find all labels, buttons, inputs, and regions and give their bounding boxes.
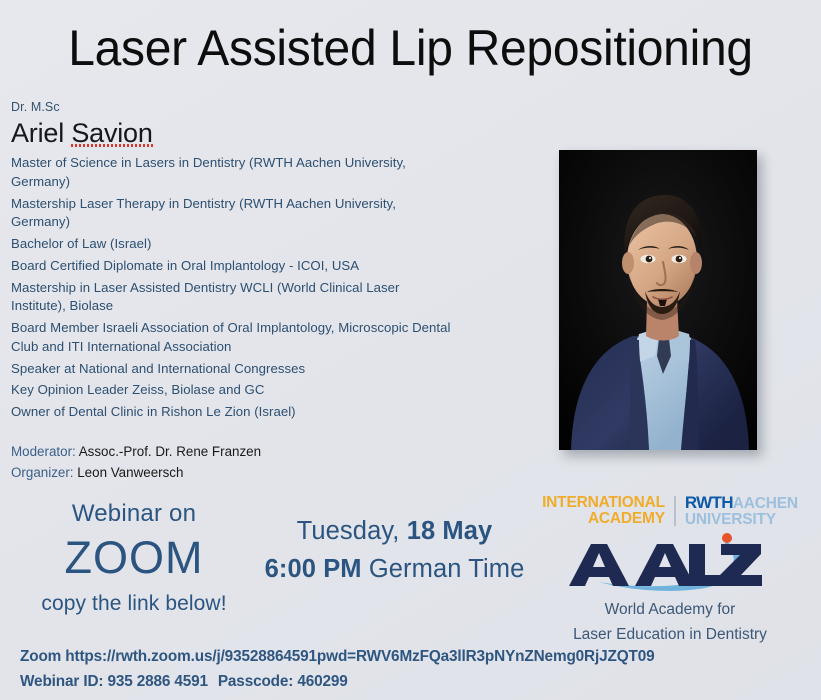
aachen-label: AACHEN — [733, 495, 798, 512]
page-title: Laser Assisted Lip Repositioning — [16, 22, 804, 75]
webinar-id: Webinar ID: 935 2886 4591 — [20, 673, 208, 690]
rwth-wordmark: RWTH — [685, 493, 733, 512]
webinar-poster: Laser Assisted Lip Repositioning Dr. M.S… — [0, 0, 821, 700]
moderator-label: Moderator: — [11, 444, 76, 459]
speaker-last-name: Savion — [71, 118, 152, 148]
day-prefix: Tuesday, — [297, 517, 407, 545]
zoom-link[interactable]: Zoom https://rwth.zoom.us/j/93528864591p… — [20, 644, 802, 669]
international-academy-logo: INTERNATIONAL ACADEMY — [542, 495, 665, 527]
list-item: Board Certified Diplomate in Oral Implan… — [11, 257, 451, 276]
aalz-dot — [722, 533, 732, 543]
list-item: Bachelor of Law (Israel) — [11, 235, 451, 254]
list-item: Master of Science in Lasers in Dentistry… — [11, 154, 451, 191]
event-date: Tuesday, 18 May — [262, 512, 527, 550]
roles-section: Moderator: Assoc.-Prof. Dr. Rene Franzen… — [11, 442, 441, 484]
list-item: Speaker at National and International Co… — [11, 360, 451, 379]
organizer-line: Organizer: Leon Vanweersch — [11, 463, 441, 483]
timezone-label: German Time — [362, 555, 525, 583]
portrait-illustration — [559, 150, 757, 450]
schedule-section: Tuesday, 18 May 6:00 PM German Time — [262, 512, 527, 589]
speaker-degree: Dr. M.Sc — [11, 100, 451, 114]
list-item: Board Member Israeli Association of Oral… — [11, 319, 451, 356]
partner-logos: INTERNATIONAL ACADEMY RWTHAACHEN UNIVERS… — [524, 494, 816, 528]
speaker-first-name: Ariel — [11, 118, 71, 148]
copy-link-instruction: copy the link below! — [8, 592, 260, 616]
aalz-mark — [555, 530, 785, 596]
logo-divider — [674, 496, 676, 526]
rwth-logo: RWTHAACHEN UNIVERSITY — [685, 494, 798, 528]
date-value: 18 May — [407, 517, 493, 545]
organizer-name: Leon Vanweersch — [74, 465, 184, 480]
speaker-section: Dr. M.Sc Ariel Savion Master of Science … — [11, 100, 451, 425]
list-item: Owner of Dental Clinic in Rishon Le Zion… — [11, 403, 451, 422]
footer-section: Zoom https://rwth.zoom.us/j/93528864591p… — [20, 644, 810, 694]
logo-subtitle-1: World Academy for — [524, 598, 816, 621]
list-item: Key Opinion Leader Zeiss, Biolase and GC — [11, 381, 451, 400]
time-value: 6:00 PM — [265, 555, 362, 583]
speaker-name: Ariel Savion — [11, 118, 153, 148]
credentials-list: Master of Science in Lasers in Dentistry… — [11, 154, 451, 422]
international-line: INTERNATIONAL — [542, 495, 665, 511]
list-item: Mastership Laser Therapy in Dentistry (R… — [11, 195, 451, 232]
platform-section: Webinar on ZOOM copy the link below! — [8, 500, 260, 616]
moderator-name: Assoc.-Prof. Dr. Rene Franzen — [76, 444, 261, 459]
passcode: Passcode: 460299 — [218, 673, 348, 690]
event-time: 6:00 PM German Time — [262, 550, 527, 588]
moderator-line: Moderator: Assoc.-Prof. Dr. Rene Franzen — [11, 442, 441, 462]
zoom-wordmark: ZOOM — [8, 530, 260, 586]
speaker-portrait — [559, 150, 757, 450]
webinar-credentials: Webinar ID: 935 2886 4591Passcode: 46029… — [20, 669, 802, 694]
list-item: Mastership in Laser Assisted Dentistry W… — [11, 279, 451, 316]
logo-section: INTERNATIONAL ACADEMY RWTHAACHEN UNIVERS… — [524, 494, 816, 647]
university-label: UNIVERSITY — [685, 512, 798, 528]
rwth-line: RWTHAACHEN — [685, 494, 798, 512]
aalz-logo — [524, 530, 816, 596]
webinar-on-label: Webinar on — [8, 500, 260, 528]
organizer-label: Organizer: — [11, 465, 74, 480]
academy-line: ACADEMY — [542, 511, 665, 527]
